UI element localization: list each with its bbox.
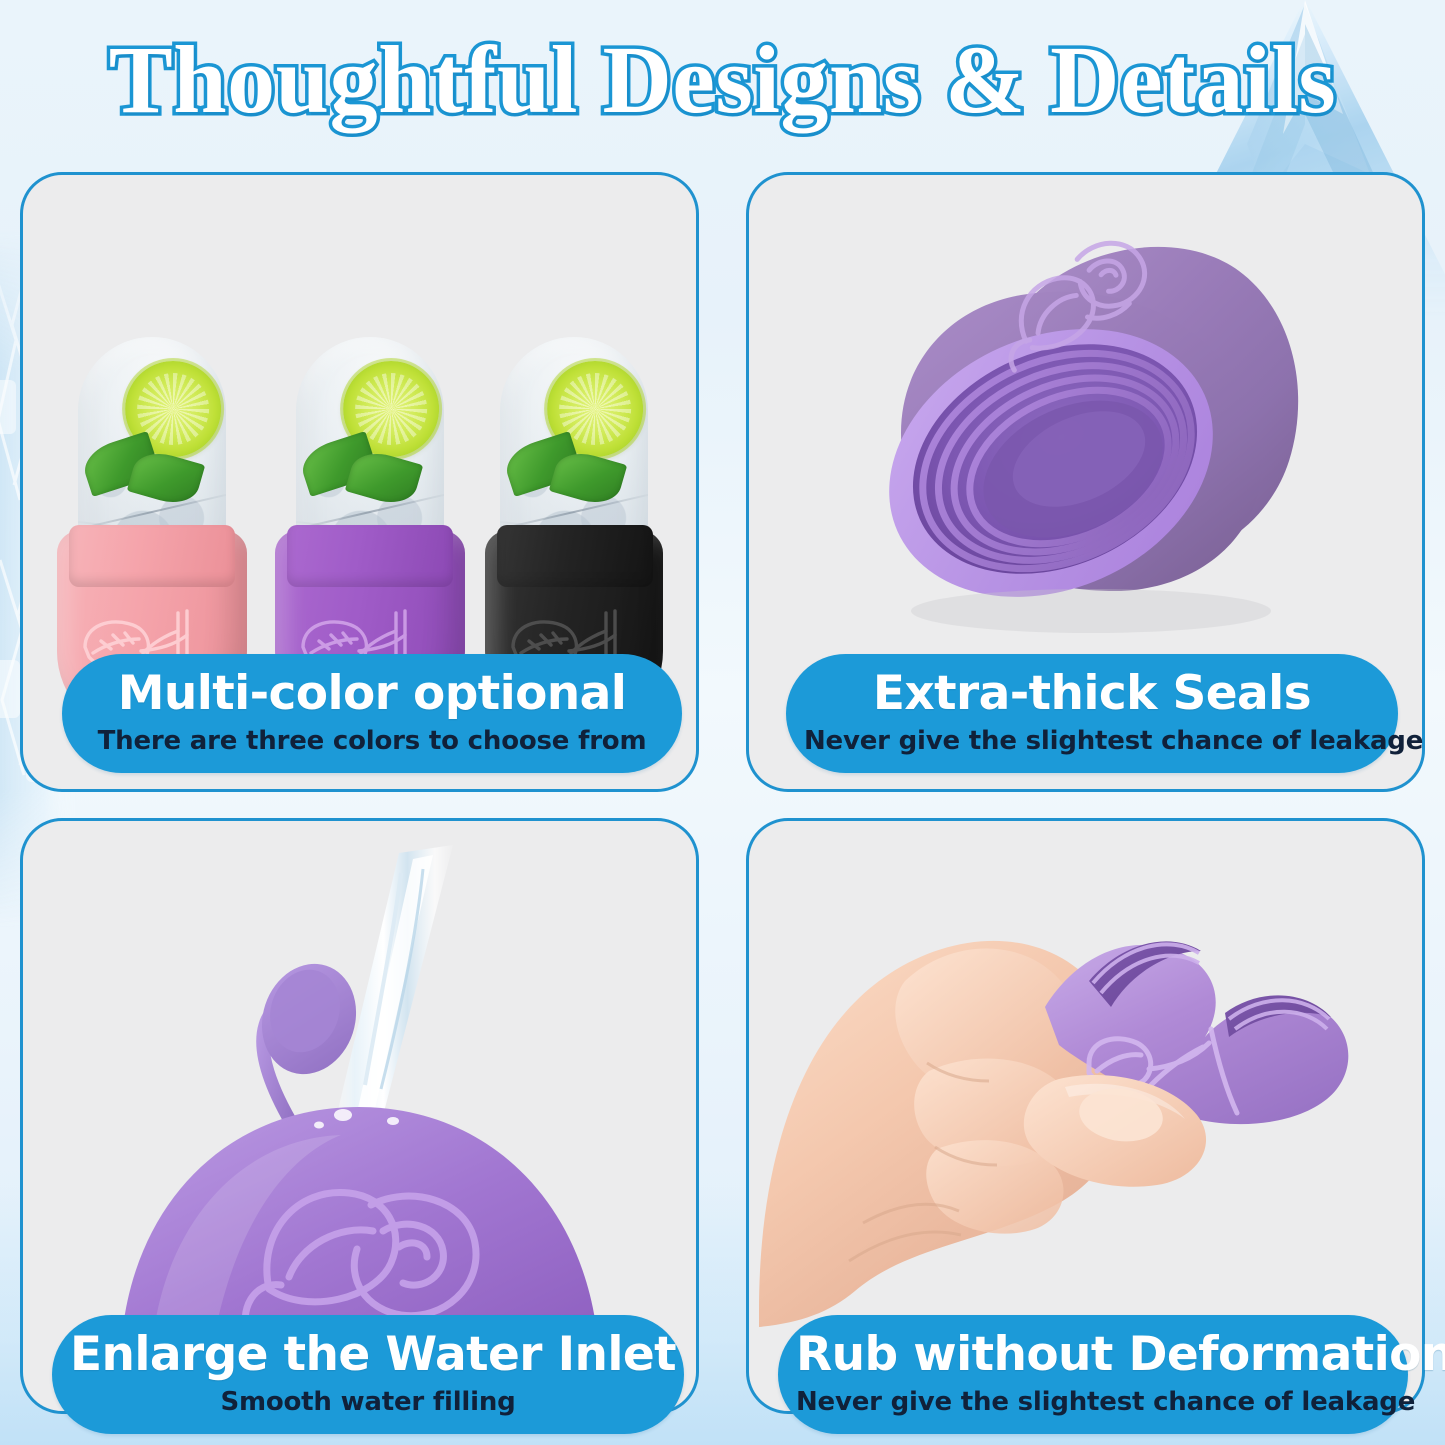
silicone-seal-cup-icon — [841, 211, 1341, 641]
banner-subtitle: Smooth water filling — [70, 1387, 666, 1418]
hand-squeezing-cup-icon — [759, 831, 1419, 1331]
banner-rub-without-deformation: Rub without Deformation Never give the s… — [778, 1315, 1408, 1434]
banner-headline: Rub without Deformation — [796, 1329, 1390, 1382]
page-title: Thoughtful Designs & Details — [0, 28, 1445, 132]
banner-enlarge-water-inlet: Enlarge the Water Inlet Smooth water fil… — [52, 1315, 684, 1434]
banner-subtitle: Never give the slightest chance of leaka… — [796, 1387, 1390, 1418]
banner-headline: Multi-color optional — [80, 668, 664, 721]
banner-subtitle: There are three colors to choose from — [80, 726, 664, 757]
banner-headline: Extra-thick Seals — [804, 668, 1380, 721]
banner-headline: Enlarge the Water Inlet — [70, 1329, 666, 1382]
infographic-page: Thoughtful Designs & Details — [0, 0, 1445, 1445]
banner-multi-color: Multi-color optional There are three col… — [62, 654, 682, 773]
banner-subtitle: Never give the slightest chance of leaka… — [804, 726, 1380, 757]
banner-extra-thick-seals: Extra-thick Seals Never give the slighte… — [786, 654, 1398, 773]
